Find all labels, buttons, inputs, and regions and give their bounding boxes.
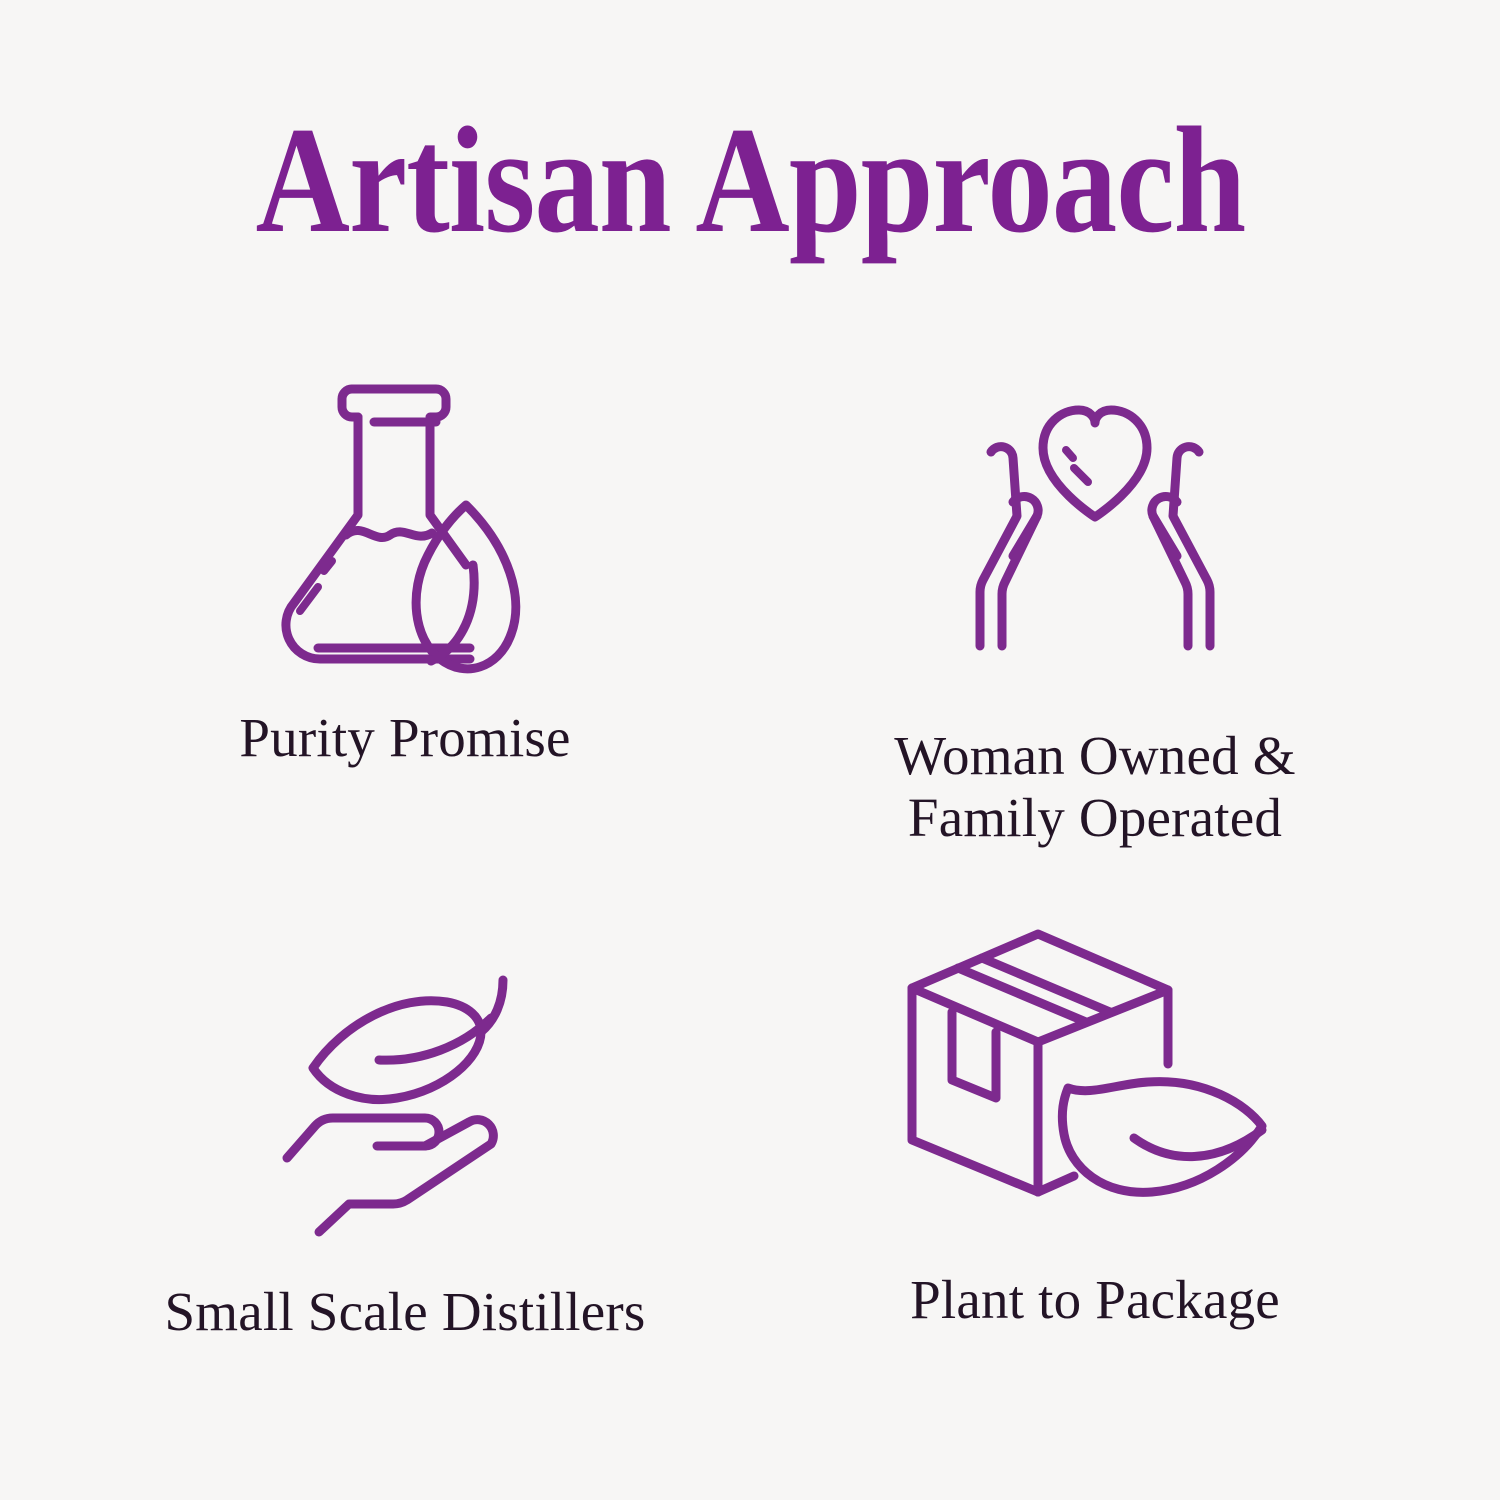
feature-item-woman-owned: Woman Owned & Family Operated xyxy=(750,355,1440,885)
feature-item-small-scale-distillers: Small Scale Distillers xyxy=(60,885,750,1415)
page-title-container: Artisan Approach xyxy=(0,104,1500,256)
feature-label: Purity Promise xyxy=(239,707,570,769)
feature-item-purity-promise: Purity Promise xyxy=(60,355,750,885)
hands-holding-heart-icon xyxy=(935,377,1255,677)
feature-grid: Purity Promise xyxy=(60,355,1440,1415)
feature-item-plant-to-package: Plant to Package xyxy=(750,885,1440,1415)
flask-leaf-icon xyxy=(270,365,540,665)
leaf-in-hand-icon xyxy=(285,935,525,1235)
page-title: Artisan Approach xyxy=(255,104,1245,256)
feature-label: Small Scale Distillers xyxy=(164,1281,645,1343)
feature-label: Plant to Package xyxy=(910,1269,1280,1331)
artisan-approach-panel: Artisan Approach xyxy=(0,0,1500,1500)
box-leaf-icon xyxy=(890,917,1300,1217)
feature-label: Woman Owned & Family Operated xyxy=(894,725,1295,848)
